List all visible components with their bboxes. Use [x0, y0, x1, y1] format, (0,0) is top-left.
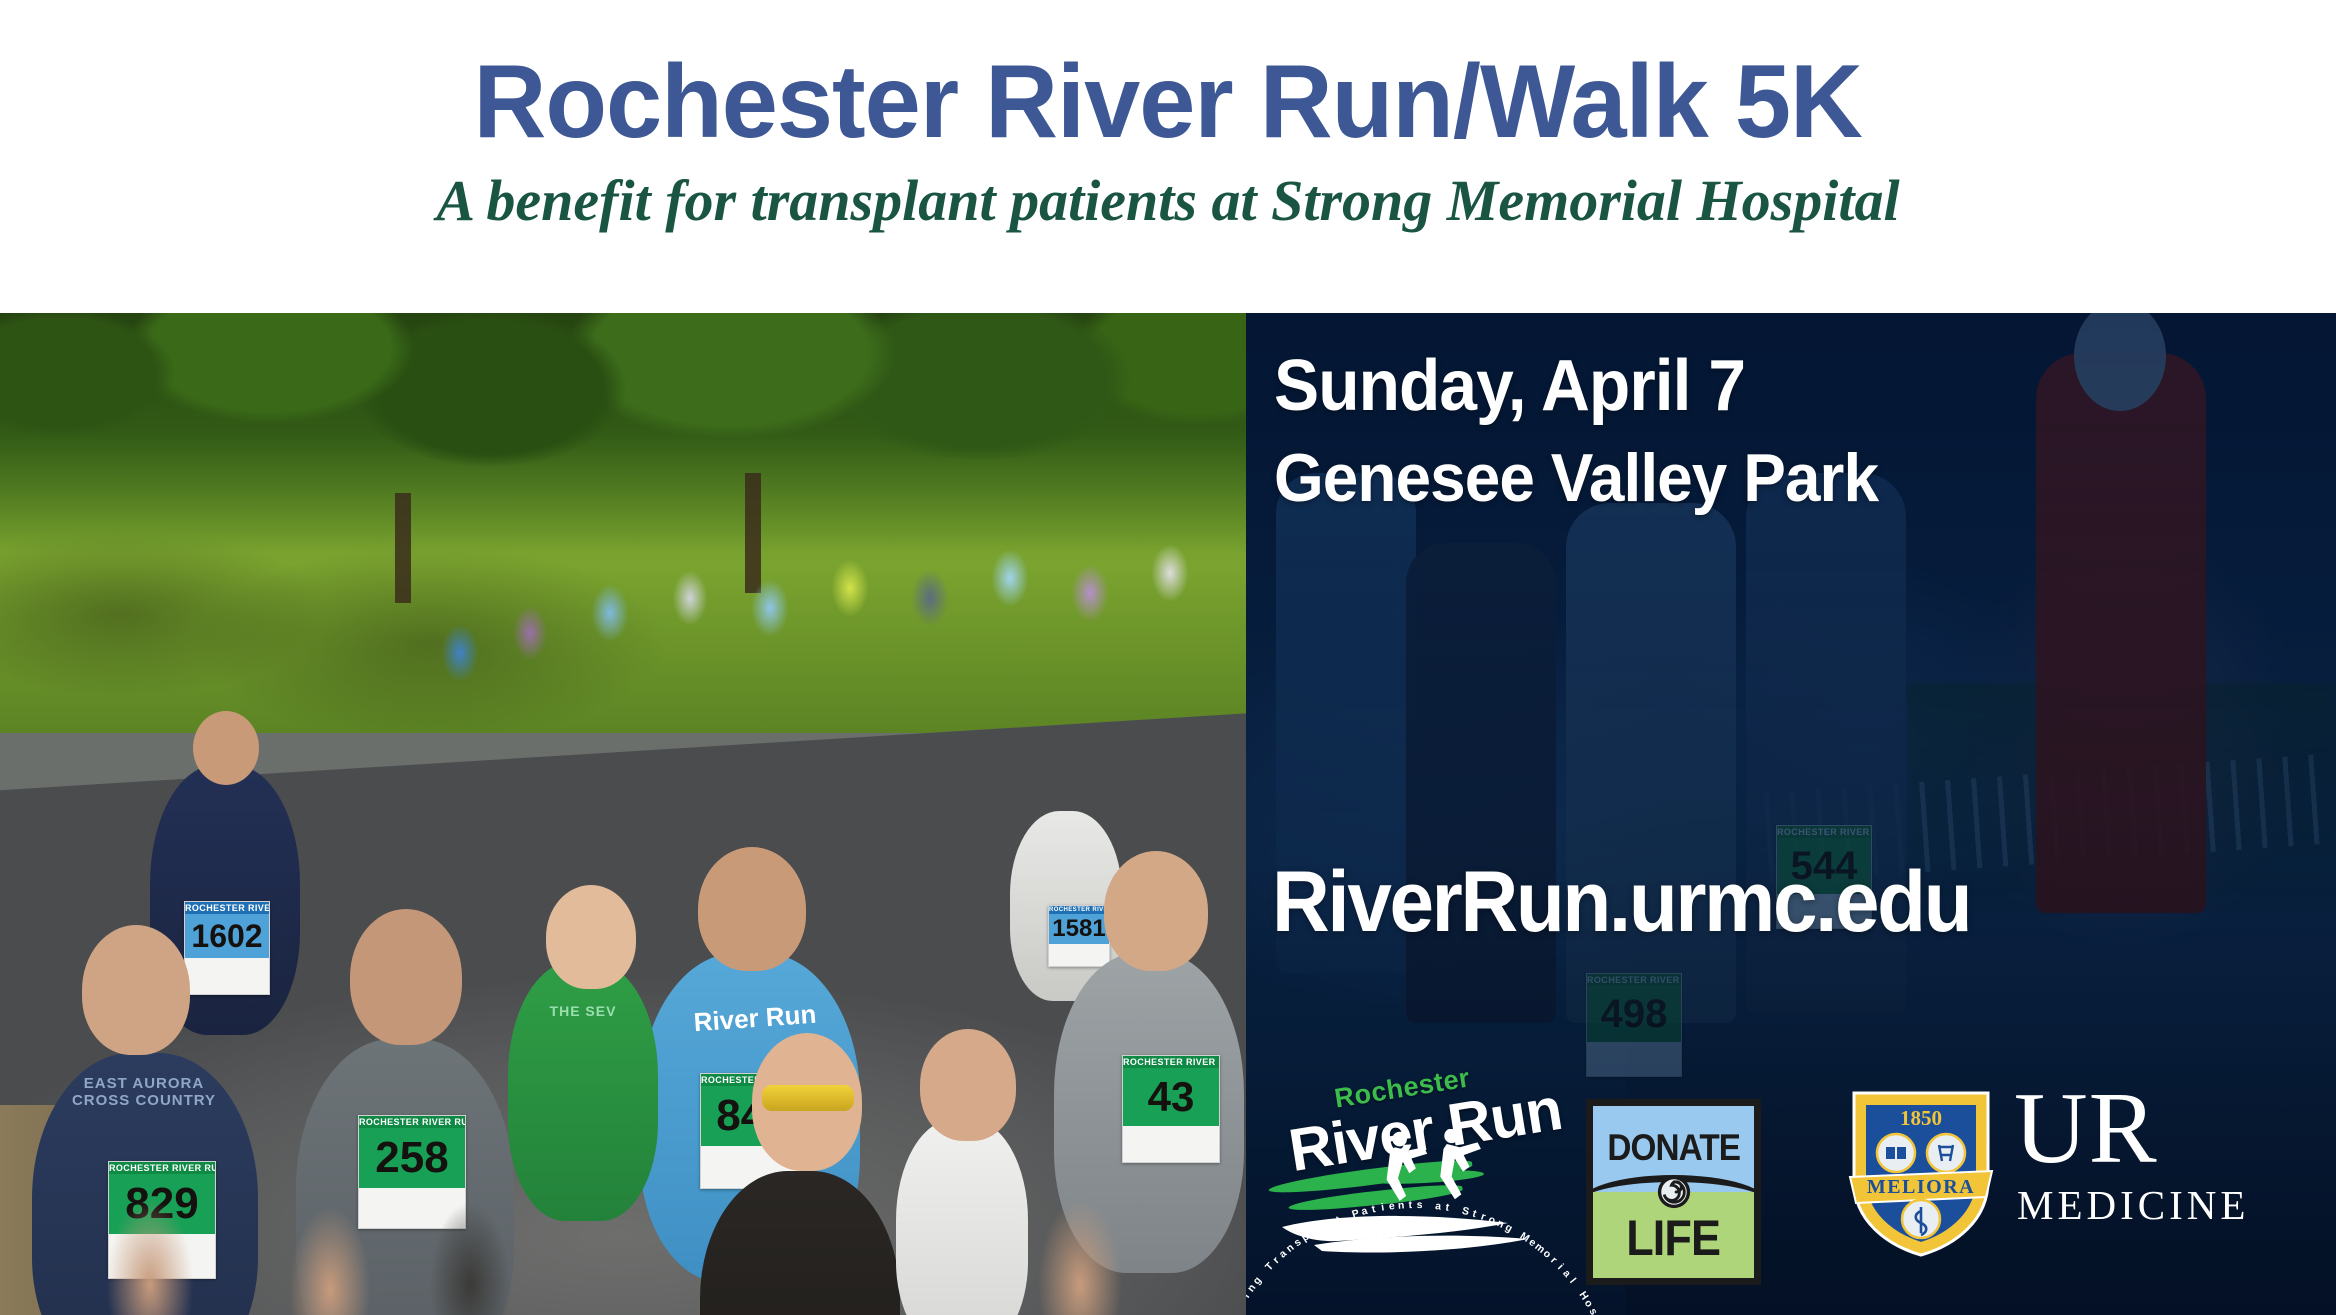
river-run-logo-tagline-char — [1454, 1203, 1459, 1215]
poster-header: Rochester River Run/Walk 5K A benefit fo… — [0, 0, 2336, 313]
bib-label: ROCHESTER RIVER RUN — [185, 902, 269, 914]
river-run-logo-tagline-char — [1258, 1269, 1269, 1279]
river-run-logo-tagline-char: r — [1548, 1255, 1559, 1267]
page-subtitle: A benefit for transplant patients at Str… — [436, 172, 1899, 230]
bib-number: 1602 — [185, 914, 269, 958]
river-run-logo-tagline-char: s — [1417, 1199, 1423, 1211]
river-run-logo-tagline-char: t — [1371, 1203, 1377, 1215]
river-run-logo-tagline-char: S — [1461, 1205, 1471, 1218]
river-run-logo-tagline-char: a — [1435, 1200, 1442, 1213]
race-bib: ROCHESTER RIVER RUN 1602 — [184, 901, 270, 995]
runner-head — [546, 885, 636, 989]
event-url[interactable]: RiverRun.urmc.edu — [1272, 853, 1970, 952]
bib-footer — [185, 958, 269, 994]
race-crowd-photo: ROCHESTER RIVER RUN 1602 ROCHESTER RIVER… — [0, 313, 1246, 1315]
page-title: Rochester River Run/Walk 5K — [474, 50, 1862, 154]
river-run-logo-tagline-char — [1343, 1211, 1350, 1223]
ur-medicine-wordmark: UR MEDICINE — [2014, 1079, 2314, 1229]
ur-medicine-logo: 1850 MELIORA UR MEDICINE — [1846, 1079, 2306, 1279]
river-run-logo-tagline-char: l — [1567, 1276, 1578, 1286]
bib-number: 1581 — [1049, 914, 1109, 944]
sponsor-logo-row: Rochester River Run — [1246, 1037, 2336, 1307]
ur-medicine-line2: MEDICINE — [2017, 1181, 2314, 1229]
event-poster: Rochester River Run/Walk 5K A benefit fo… — [0, 0, 2336, 1315]
river-run-logo-tagline-arc: Supporting Transplant Patients at Strong… — [1260, 1199, 1570, 1299]
river-run-logo-tagline-char: t — [1408, 1199, 1412, 1211]
distant-crowd — [400, 483, 1246, 733]
river-run-logo-tagline-char: P — [1350, 1207, 1360, 1221]
bib-footer — [1049, 944, 1109, 966]
bib-label: ROCHESTER RIVER RUN — [1049, 906, 1109, 914]
donate-life-logo: DONATE LIFE — [1586, 1099, 1761, 1285]
river-run-logo-tagline-char: n — [1397, 1199, 1404, 1211]
university-shield-icon: 1850 MELIORA — [1846, 1085, 1996, 1260]
river-run-logo: Rochester River Run — [1260, 1051, 1570, 1301]
river-run-logo-tagline-char: r — [1479, 1211, 1487, 1224]
river-run-logo-tagline-char: i — [1246, 1291, 1252, 1300]
river-run-logo-tagline-char: l — [1309, 1227, 1318, 1239]
donate-life-swirl-icon — [1657, 1175, 1691, 1209]
runner-head — [1104, 851, 1208, 971]
shirt-text: THE SEV — [518, 1003, 648, 1019]
river-run-logo-tagline-char: n — [1324, 1217, 1335, 1231]
river-run-logo-tagline-char — [1427, 1199, 1431, 1211]
river-run-logo-tagline-char: T — [1263, 1260, 1276, 1273]
runner-head — [698, 847, 806, 971]
runner-head — [193, 711, 259, 785]
event-date: Sunday, April 7 — [1274, 345, 1745, 427]
donate-life-word-donate: DONATE — [1607, 1127, 1740, 1169]
river-run-logo-tagline-char: t — [1334, 1214, 1342, 1226]
shield-motto-text: MELIORA — [1867, 1176, 1975, 1198]
donate-life-word-life: LIFE — [1627, 1209, 1721, 1267]
river-run-logo-tagline-char: a — [1360, 1205, 1369, 1218]
river-run-logo-tagline-char: g — [1503, 1221, 1514, 1235]
river-run-logo-tagline-char: i — [1380, 1201, 1385, 1213]
river-run-logo-tagline-char: a — [1560, 1267, 1573, 1279]
river-run-logo-tagline-char: t — [1471, 1208, 1478, 1220]
river-run-logo-tagline-char: e — [1388, 1200, 1395, 1213]
runner-head — [350, 909, 462, 1045]
runner-legs — [0, 1085, 1246, 1315]
runner-head — [82, 925, 190, 1055]
river-run-logo-tagline-char: t — [1246, 1299, 1248, 1308]
info-panel: ROCHESTER RIVER RUN 544 ROCHESTER RIVER … — [1246, 313, 2336, 1315]
river-run-logo-tagline-char: t — [1445, 1201, 1450, 1213]
shield-year-text: 1850 — [1900, 1106, 1942, 1130]
ur-medicine-line1: UR — [2014, 1079, 2314, 1179]
event-location: Genesee Valley Park — [1274, 439, 1878, 517]
photo-band: ROCHESTER RIVER RUN 1602 ROCHESTER RIVER… — [0, 313, 2336, 1315]
race-bib: ROCHESTER RIVER RUN 1581 — [1048, 905, 1110, 967]
bib-label: ROCHESTER RIVER RUN — [1123, 1056, 1219, 1068]
